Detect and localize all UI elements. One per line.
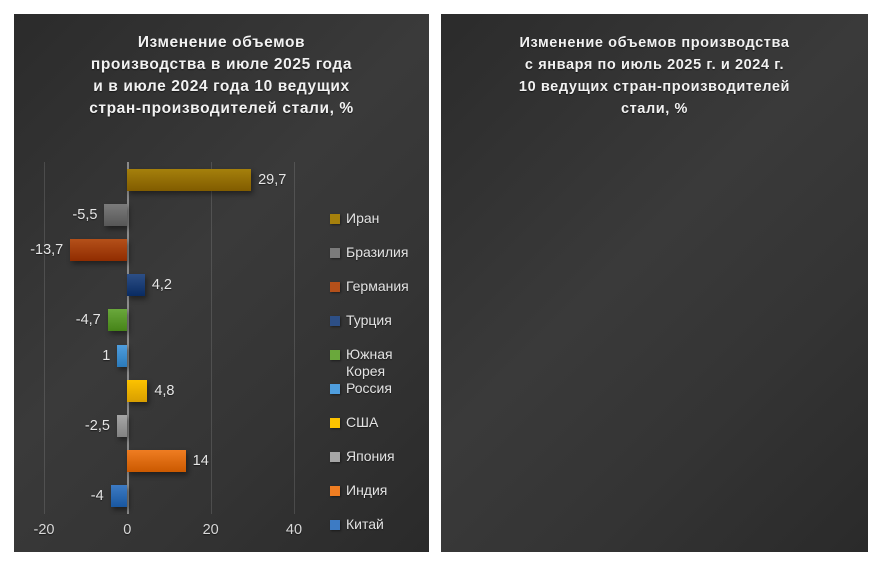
bar-row: -2,5 <box>44 415 319 437</box>
x-axis-tick: -20 <box>34 522 55 538</box>
legend-left: ИранБразилияГерманияТурцияЮжная КореяРос… <box>330 210 426 550</box>
title-line: и в июле 2024 года 10 ведущих <box>28 76 415 98</box>
title-line: стали, % <box>465 98 844 120</box>
legend-item-США[interactable]: США <box>330 414 426 448</box>
legend-label: Иран <box>346 210 379 227</box>
legend-swatch-icon <box>330 214 340 224</box>
chart-title-right: Изменение объемов производства с января … <box>441 32 868 120</box>
legend-swatch-icon <box>330 248 340 258</box>
legend-item-Индия[interactable]: Индия <box>330 482 426 516</box>
bar-value-label: -4 <box>91 488 104 504</box>
legend-label: Германия <box>346 278 409 295</box>
title-line: Изменение объемов <box>28 32 415 54</box>
bar-value-label: -5,5 <box>72 207 97 223</box>
legend-label: Китай <box>346 516 384 533</box>
bar-Китай[interactable] <box>111 485 128 507</box>
x-axis-tick: 40 <box>286 522 302 538</box>
x-axis-left: -2002040 <box>44 522 319 542</box>
legend-label: Япония <box>346 448 395 465</box>
bar-row: 1 <box>44 345 319 367</box>
bar-Индия[interactable] <box>127 450 185 472</box>
legend-label: Бразилия <box>346 244 408 261</box>
chart-panel-left: Изменение объемов производства в июле 20… <box>14 14 429 552</box>
legend-item-Германия[interactable]: Германия <box>330 278 426 312</box>
bar-row: -5,5 <box>44 204 319 226</box>
legend-item-Южная Корея[interactable]: Южная Корея <box>330 346 426 380</box>
legend-item-Бразилия[interactable]: Бразилия <box>330 244 426 278</box>
bar-row: 4,2 <box>44 274 319 296</box>
bar-row: -4,7 <box>44 309 319 331</box>
bar-Южная Корея[interactable] <box>108 309 128 331</box>
legend-item-Китай[interactable]: Китай <box>330 516 426 550</box>
bar-row: 29,7 <box>44 169 319 191</box>
bar-США[interactable] <box>127 380 147 402</box>
legend-swatch-icon <box>330 520 340 530</box>
bar-row: -13,7 <box>44 239 319 261</box>
legend-label: США <box>346 414 378 431</box>
legend-item-Турция[interactable]: Турция <box>330 312 426 346</box>
bar-value-label: -4,7 <box>76 312 101 328</box>
title-line: производства в июле 2025 года <box>28 54 415 76</box>
bar-row: 4,8 <box>44 380 319 402</box>
legend-swatch-icon <box>330 418 340 428</box>
x-axis-tick: 0 <box>123 522 131 538</box>
legend-swatch-icon <box>330 350 340 360</box>
bar-value-label: -13,7 <box>30 242 63 258</box>
legend-label: Южная Корея <box>346 346 426 380</box>
bar-value-label: 4,2 <box>152 277 172 293</box>
legend-swatch-icon <box>330 452 340 462</box>
title-line: с января по июль 2025 г. и 2024 г. <box>465 54 844 76</box>
legend-label: Индия <box>346 482 387 499</box>
plot-area-left: 29,7-5,5-13,74,2-4,714,8-2,514-4 <box>44 162 319 514</box>
x-axis-tick: 20 <box>203 522 219 538</box>
slide-canvas: Изменение объемов производства в июле 20… <box>0 0 882 582</box>
bar-value-label: 1 <box>102 348 110 364</box>
bar-value-label: 4,8 <box>154 383 174 399</box>
bar-value-label: 14 <box>193 453 209 469</box>
bar-Бразилия[interactable] <box>104 204 127 226</box>
bar-value-label: -2,5 <box>85 418 110 434</box>
title-line: 10 ведущих стран-производителей <box>465 76 844 98</box>
legend-swatch-icon <box>330 316 340 326</box>
bar-row: 14 <box>44 450 319 472</box>
bar-value-label: 29,7 <box>258 172 286 188</box>
bar-Япония[interactable] <box>117 415 127 437</box>
legend-label: Россия <box>346 380 392 397</box>
bar-Турция[interactable] <box>127 274 145 296</box>
bar-Россия[interactable] <box>117 345 127 367</box>
title-line: Изменение объемов производства <box>465 32 844 54</box>
legend-item-Иран[interactable]: Иран <box>330 210 426 244</box>
legend-label: Турция <box>346 312 392 329</box>
legend-item-Россия[interactable]: Россия <box>330 380 426 414</box>
legend-swatch-icon <box>330 282 340 292</box>
bar-row: -4 <box>44 485 319 507</box>
bar-Германия[interactable] <box>70 239 127 261</box>
legend-swatch-icon <box>330 486 340 496</box>
chart-title-left: Изменение объемов производства в июле 20… <box>14 32 429 120</box>
bar-Иран[interactable] <box>127 169 251 191</box>
legend-swatch-icon <box>330 384 340 394</box>
chart-panel-right: Изменение объемов производства с января … <box>441 14 868 552</box>
title-line: стран-производителей стали, % <box>28 98 415 120</box>
legend-item-Япония[interactable]: Япония <box>330 448 426 482</box>
